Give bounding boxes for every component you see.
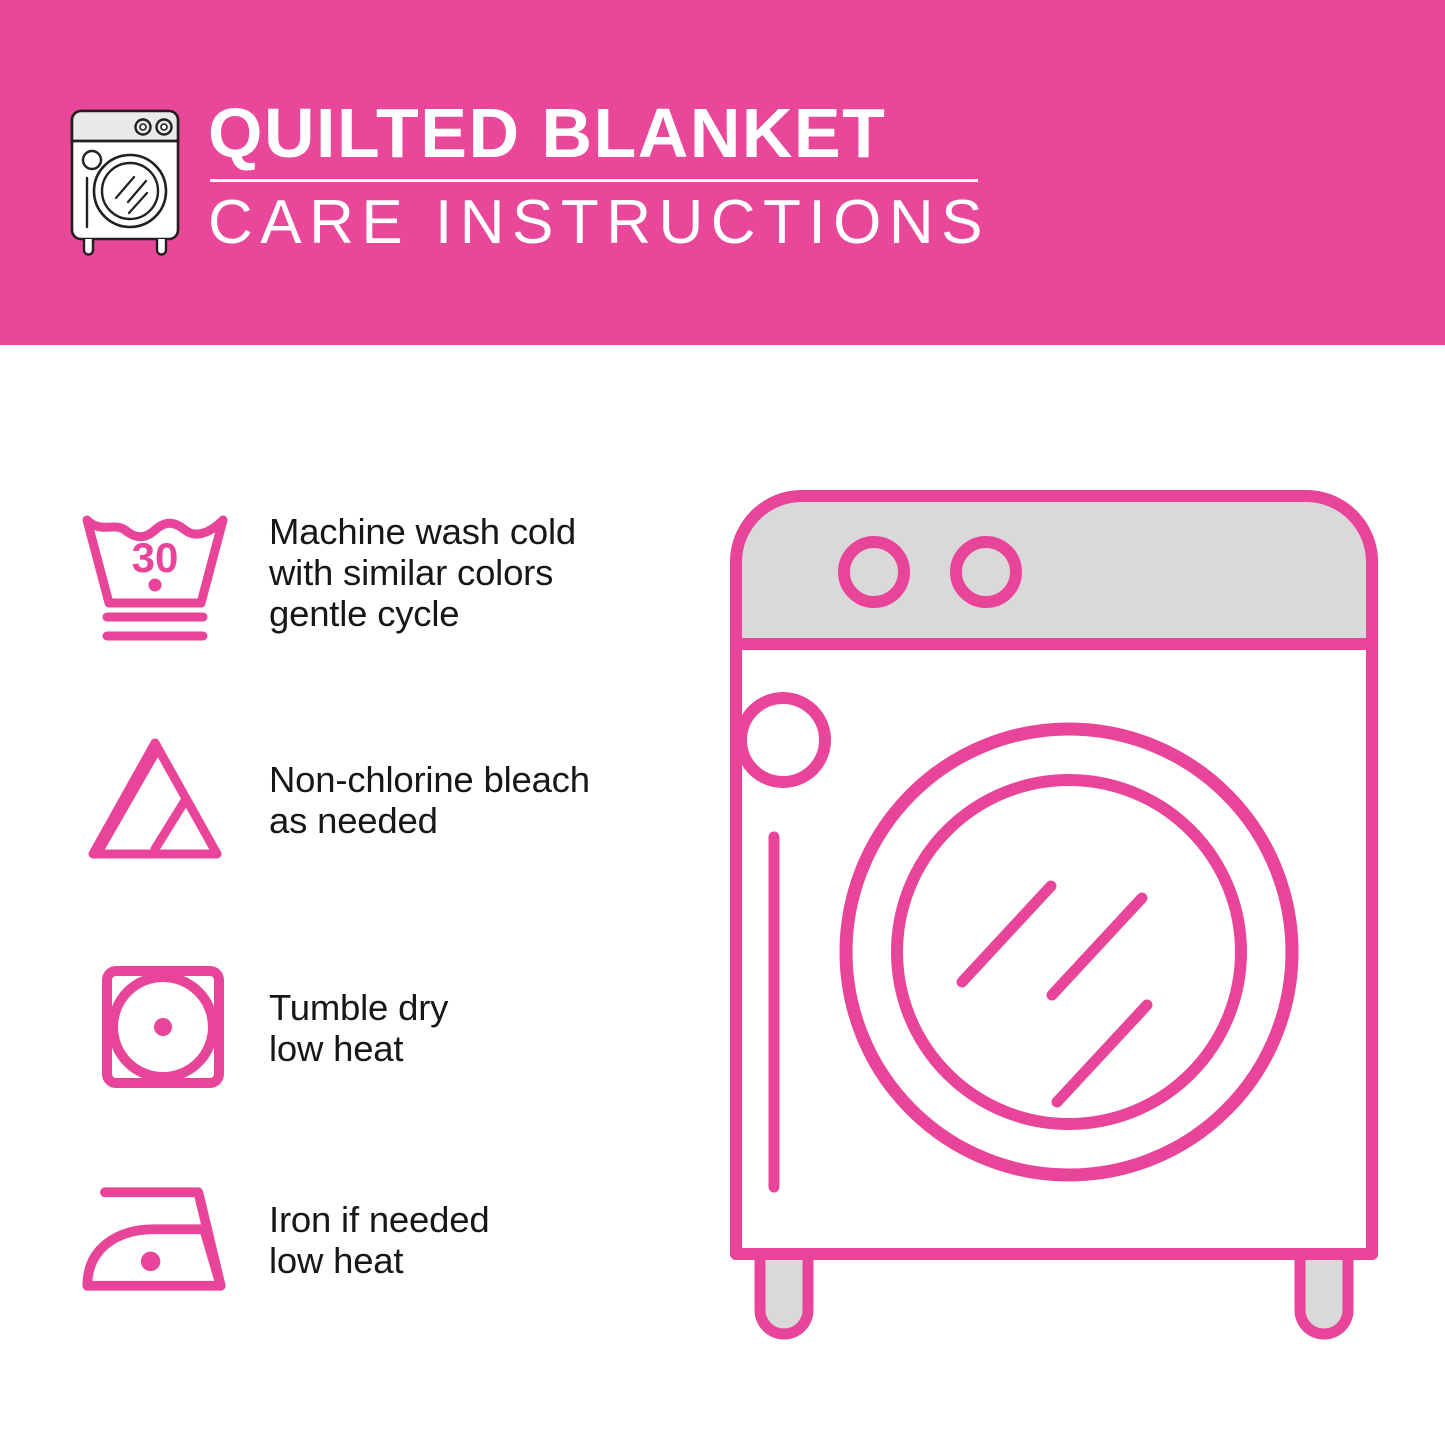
care-text-iron: Iron if needed low heat (269, 1199, 489, 1281)
care-row-machine-wash: 30 Machine wash cold with similar colors… (0, 490, 700, 655)
wash-tub-30-gentle-icon: 30 (62, 490, 247, 655)
washing-machine-icon (60, 103, 190, 258)
care-text-bleach: Non-chlorine bleach as needed (269, 759, 590, 841)
header-title-group: QUILTED BLANKET CARE INSTRUCTIONS (208, 95, 998, 258)
care-instruction-list: 30 Machine wash cold with similar colors… (0, 345, 700, 1445)
care-row-bleach: Non-chlorine bleach as needed (0, 717, 700, 882)
page-subtitle: CARE INSTRUCTIONS (208, 188, 998, 258)
wash-temperature-label: 30 (131, 534, 178, 581)
care-row-tumble-dry: Tumble dry low heat (0, 945, 700, 1110)
non-chlorine-bleach-triangle-icon (62, 717, 247, 882)
care-instructions-page: QUILTED BLANKET CARE INSTRUCTIONS 30 (0, 0, 1445, 1445)
leg-left (760, 1248, 808, 1334)
care-row-iron: Iron if needed low heat (0, 1157, 700, 1322)
knob-right-shape (956, 542, 1016, 602)
page-title: QUILTED BLANKET (208, 95, 998, 171)
door-latch-shape (741, 698, 825, 782)
front-load-washing-machine-illustration (722, 482, 1392, 1357)
leg-right (1300, 1248, 1348, 1334)
tumble-dry-low-icon (62, 945, 247, 1110)
iron-low-heat-icon (62, 1157, 247, 1322)
care-text-tumble-dry: Tumble dry low heat (269, 987, 448, 1069)
knob-left-shape (844, 542, 904, 602)
care-text-machine-wash: Machine wash cold with similar colors ge… (269, 511, 576, 634)
header-band: QUILTED BLANKET CARE INSTRUCTIONS (0, 0, 1445, 345)
drum-inner-circle-shape (897, 780, 1241, 1124)
title-divider (210, 179, 978, 182)
